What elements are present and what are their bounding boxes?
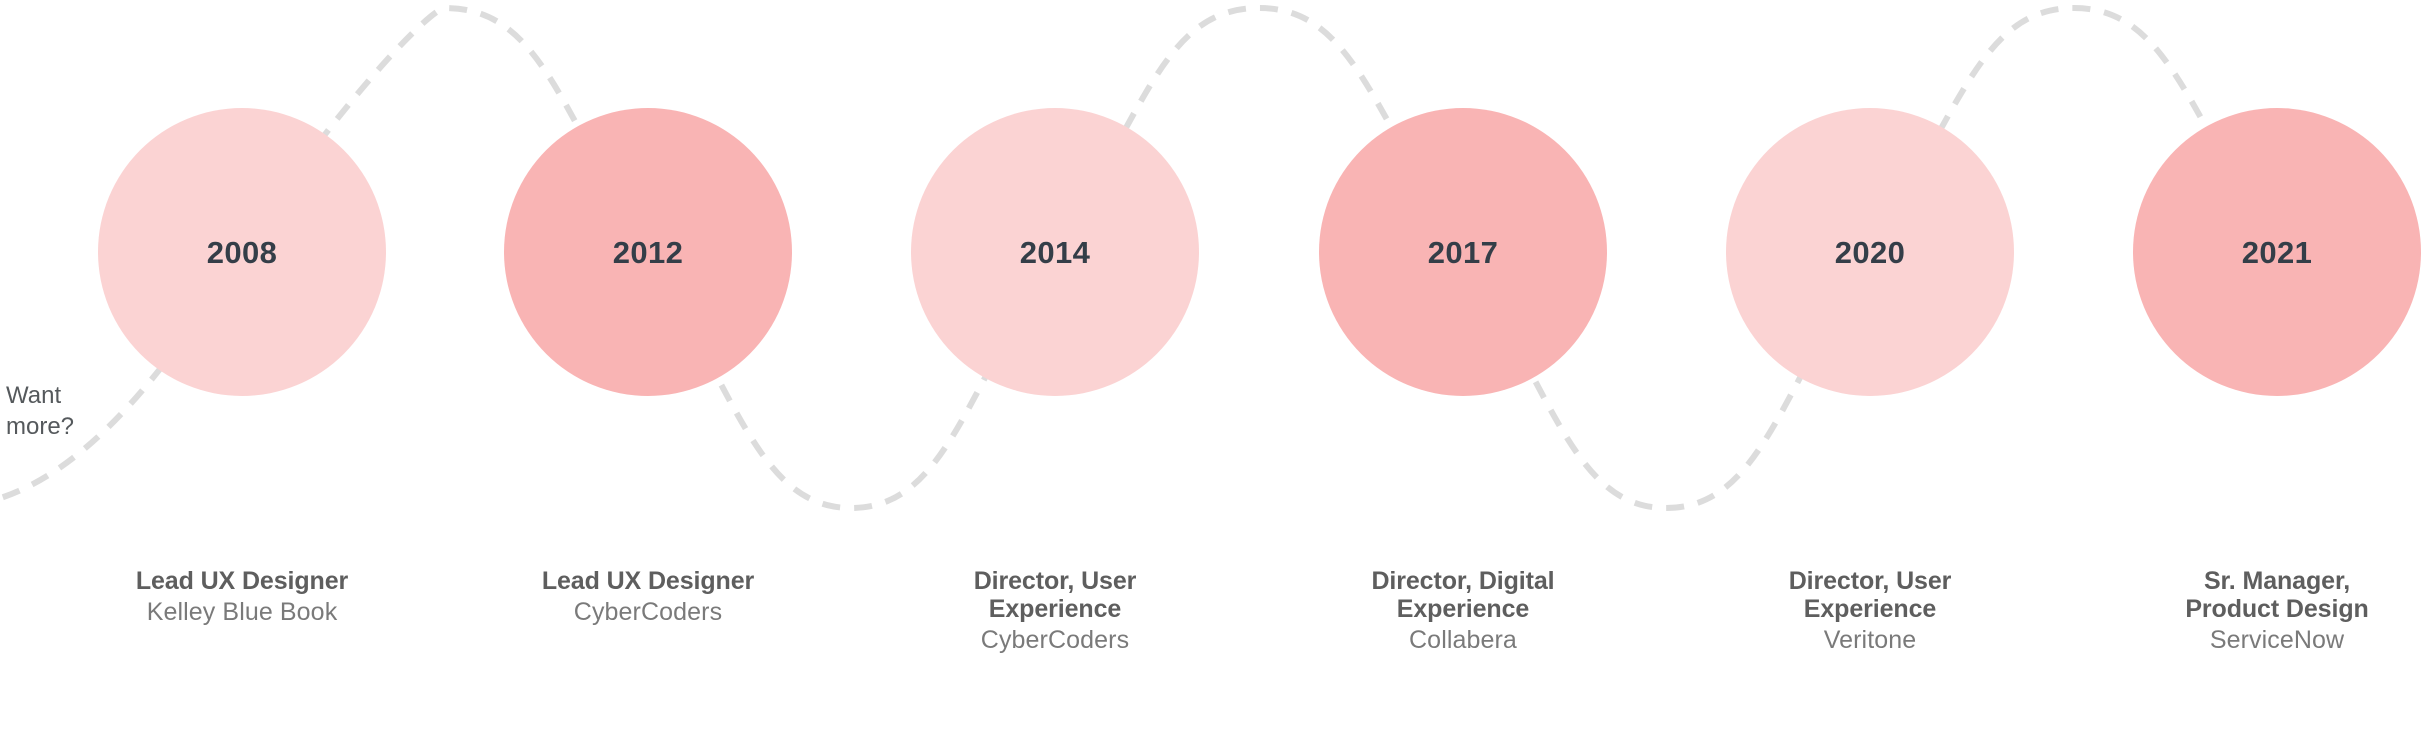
caption-org: ServiceNow	[2097, 626, 2435, 654]
timeline-node-year: 2020	[1835, 237, 1906, 268]
caption-title-line: Director, User	[875, 567, 1235, 595]
caption-org: Kelley Blue Book	[62, 598, 422, 626]
want-more-annotation[interactable]: Want more?	[6, 381, 98, 442]
timeline-node-2012[interactable]: 2012	[504, 108, 792, 396]
timeline-node-2017[interactable]: 2017	[1319, 108, 1607, 396]
caption-org: Veritone	[1690, 626, 2050, 654]
caption-org: CyberCoders	[468, 598, 828, 626]
caption-title-line: Product Design	[2097, 595, 2435, 623]
want-more-line-2: more?	[6, 413, 74, 440]
caption-title-line: Experience	[1690, 595, 2050, 623]
timeline-caption-2014: Director, User Experience CyberCoders	[875, 567, 1235, 654]
timeline-caption-2021: Sr. Manager, Product Design ServiceNow	[2097, 567, 2435, 654]
timeline-node-year: 2012	[613, 237, 684, 268]
caption-title-line: Director, User	[1690, 567, 2050, 595]
timeline-node-2014[interactable]: 2014	[911, 108, 1199, 396]
timeline-caption-2012: Lead UX Designer CyberCoders	[468, 567, 828, 626]
timeline-node-2021[interactable]: 2021	[2133, 108, 2421, 396]
caption-org: Collabera	[1283, 626, 1643, 654]
caption-title-line: Lead UX Designer	[468, 567, 828, 595]
timeline-node-year: 2021	[2242, 237, 2313, 268]
timeline-infographic: 2008 Lead UX Designer Kelley Blue Book 2…	[0, 0, 2435, 748]
timeline-node-year: 2008	[207, 237, 278, 268]
caption-title-line: Director, Digital	[1283, 567, 1643, 595]
caption-title-line: Experience	[875, 595, 1235, 623]
timeline-caption-2020: Director, User Experience Veritone	[1690, 567, 2050, 654]
timeline-node-year: 2014	[1020, 237, 1091, 268]
timeline-caption-2017: Director, Digital Experience Collabera	[1283, 567, 1643, 654]
caption-title-line: Lead UX Designer	[62, 567, 422, 595]
want-more-line-1: Want	[6, 382, 61, 409]
caption-title-line: Experience	[1283, 595, 1643, 623]
caption-title-line: Sr. Manager,	[2097, 567, 2435, 595]
timeline-node-2008[interactable]: 2008	[98, 108, 386, 396]
timeline-node-year: 2017	[1428, 237, 1499, 268]
timeline-caption-2008: Lead UX Designer Kelley Blue Book	[62, 567, 422, 626]
caption-org: CyberCoders	[875, 626, 1235, 654]
timeline-node-2020[interactable]: 2020	[1726, 108, 2014, 396]
